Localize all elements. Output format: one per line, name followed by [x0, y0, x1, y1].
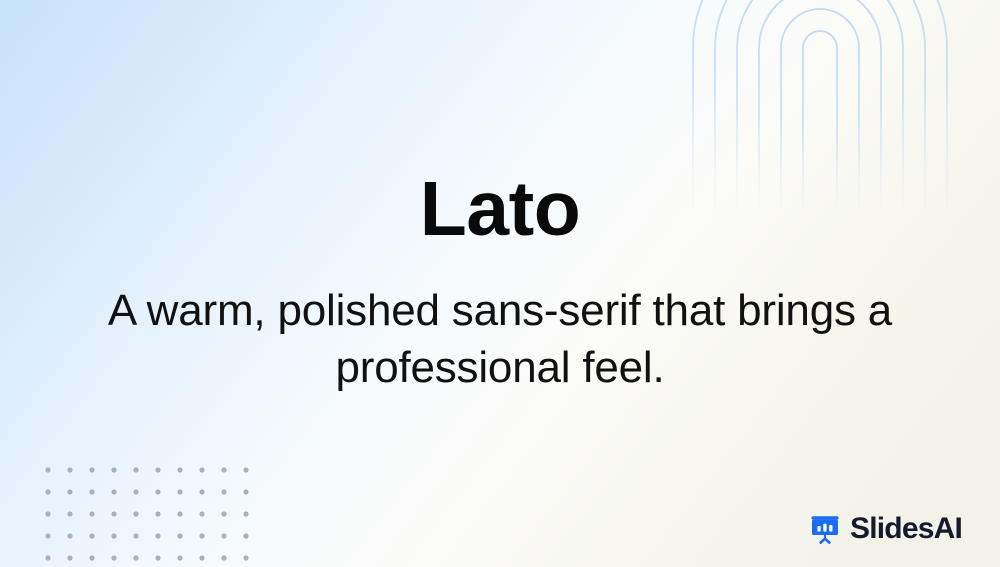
page-title: Lato [420, 171, 581, 248]
slide-content: Lato A warm, polished sans-serif that br… [0, 0, 1000, 567]
slidesai-logo: SlidesAI [809, 513, 962, 545]
slide-canvas: Lato A warm, polished sans-serif that br… [0, 0, 1000, 567]
presentation-board-icon [809, 513, 841, 545]
slide-subtitle: A warm, polished sans-serif that brings … [70, 282, 930, 396]
logo-wordmark: SlidesAI [850, 514, 962, 544]
